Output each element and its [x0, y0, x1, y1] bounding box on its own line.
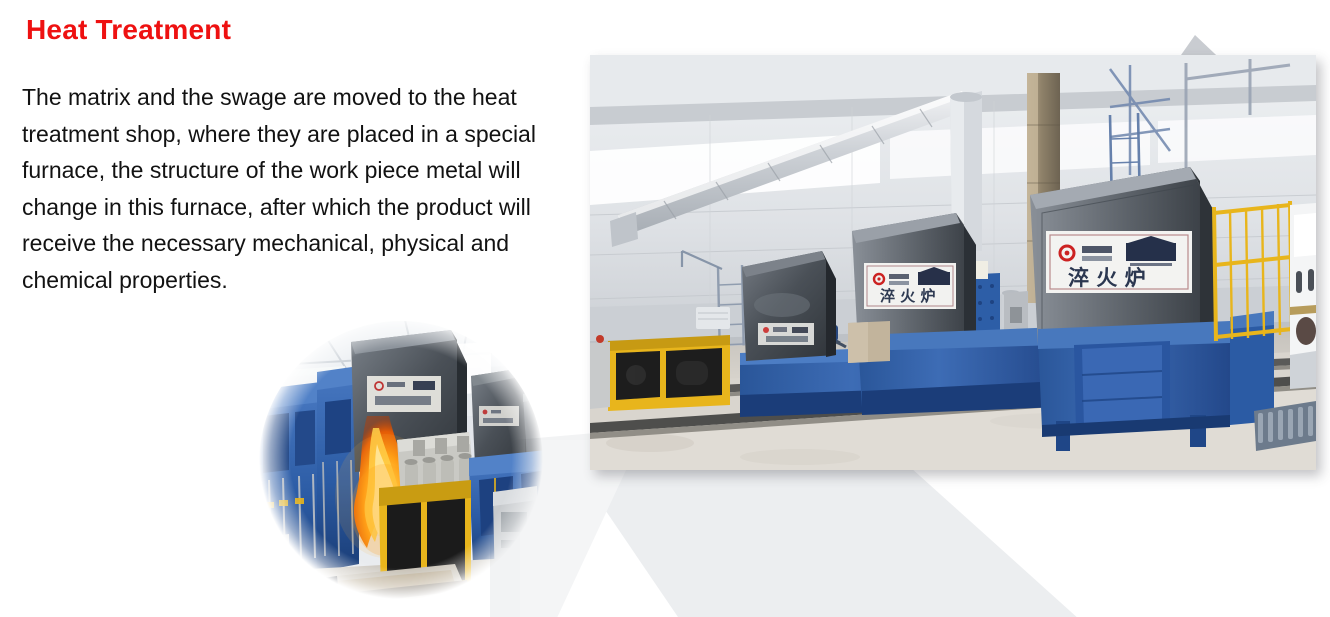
page-title: Heat Treatment [26, 14, 231, 46]
slide-canvas: Heat Treatment The matrix and the swage … [0, 0, 1330, 617]
main-furnace-sign-text: 淬 火 炉 [1068, 266, 1146, 290]
body-paragraph: The matrix and the swage are moved to th… [22, 79, 552, 298]
main-photo-svg: 淬 火 炉 [590, 55, 1316, 470]
middle-furnace-sign-text: 淬 火 炉 [880, 287, 935, 305]
inset-photo-svg [255, 320, 547, 617]
main-photo: 淬 火 炉 [590, 55, 1316, 470]
inset-photo-circle [255, 320, 547, 617]
